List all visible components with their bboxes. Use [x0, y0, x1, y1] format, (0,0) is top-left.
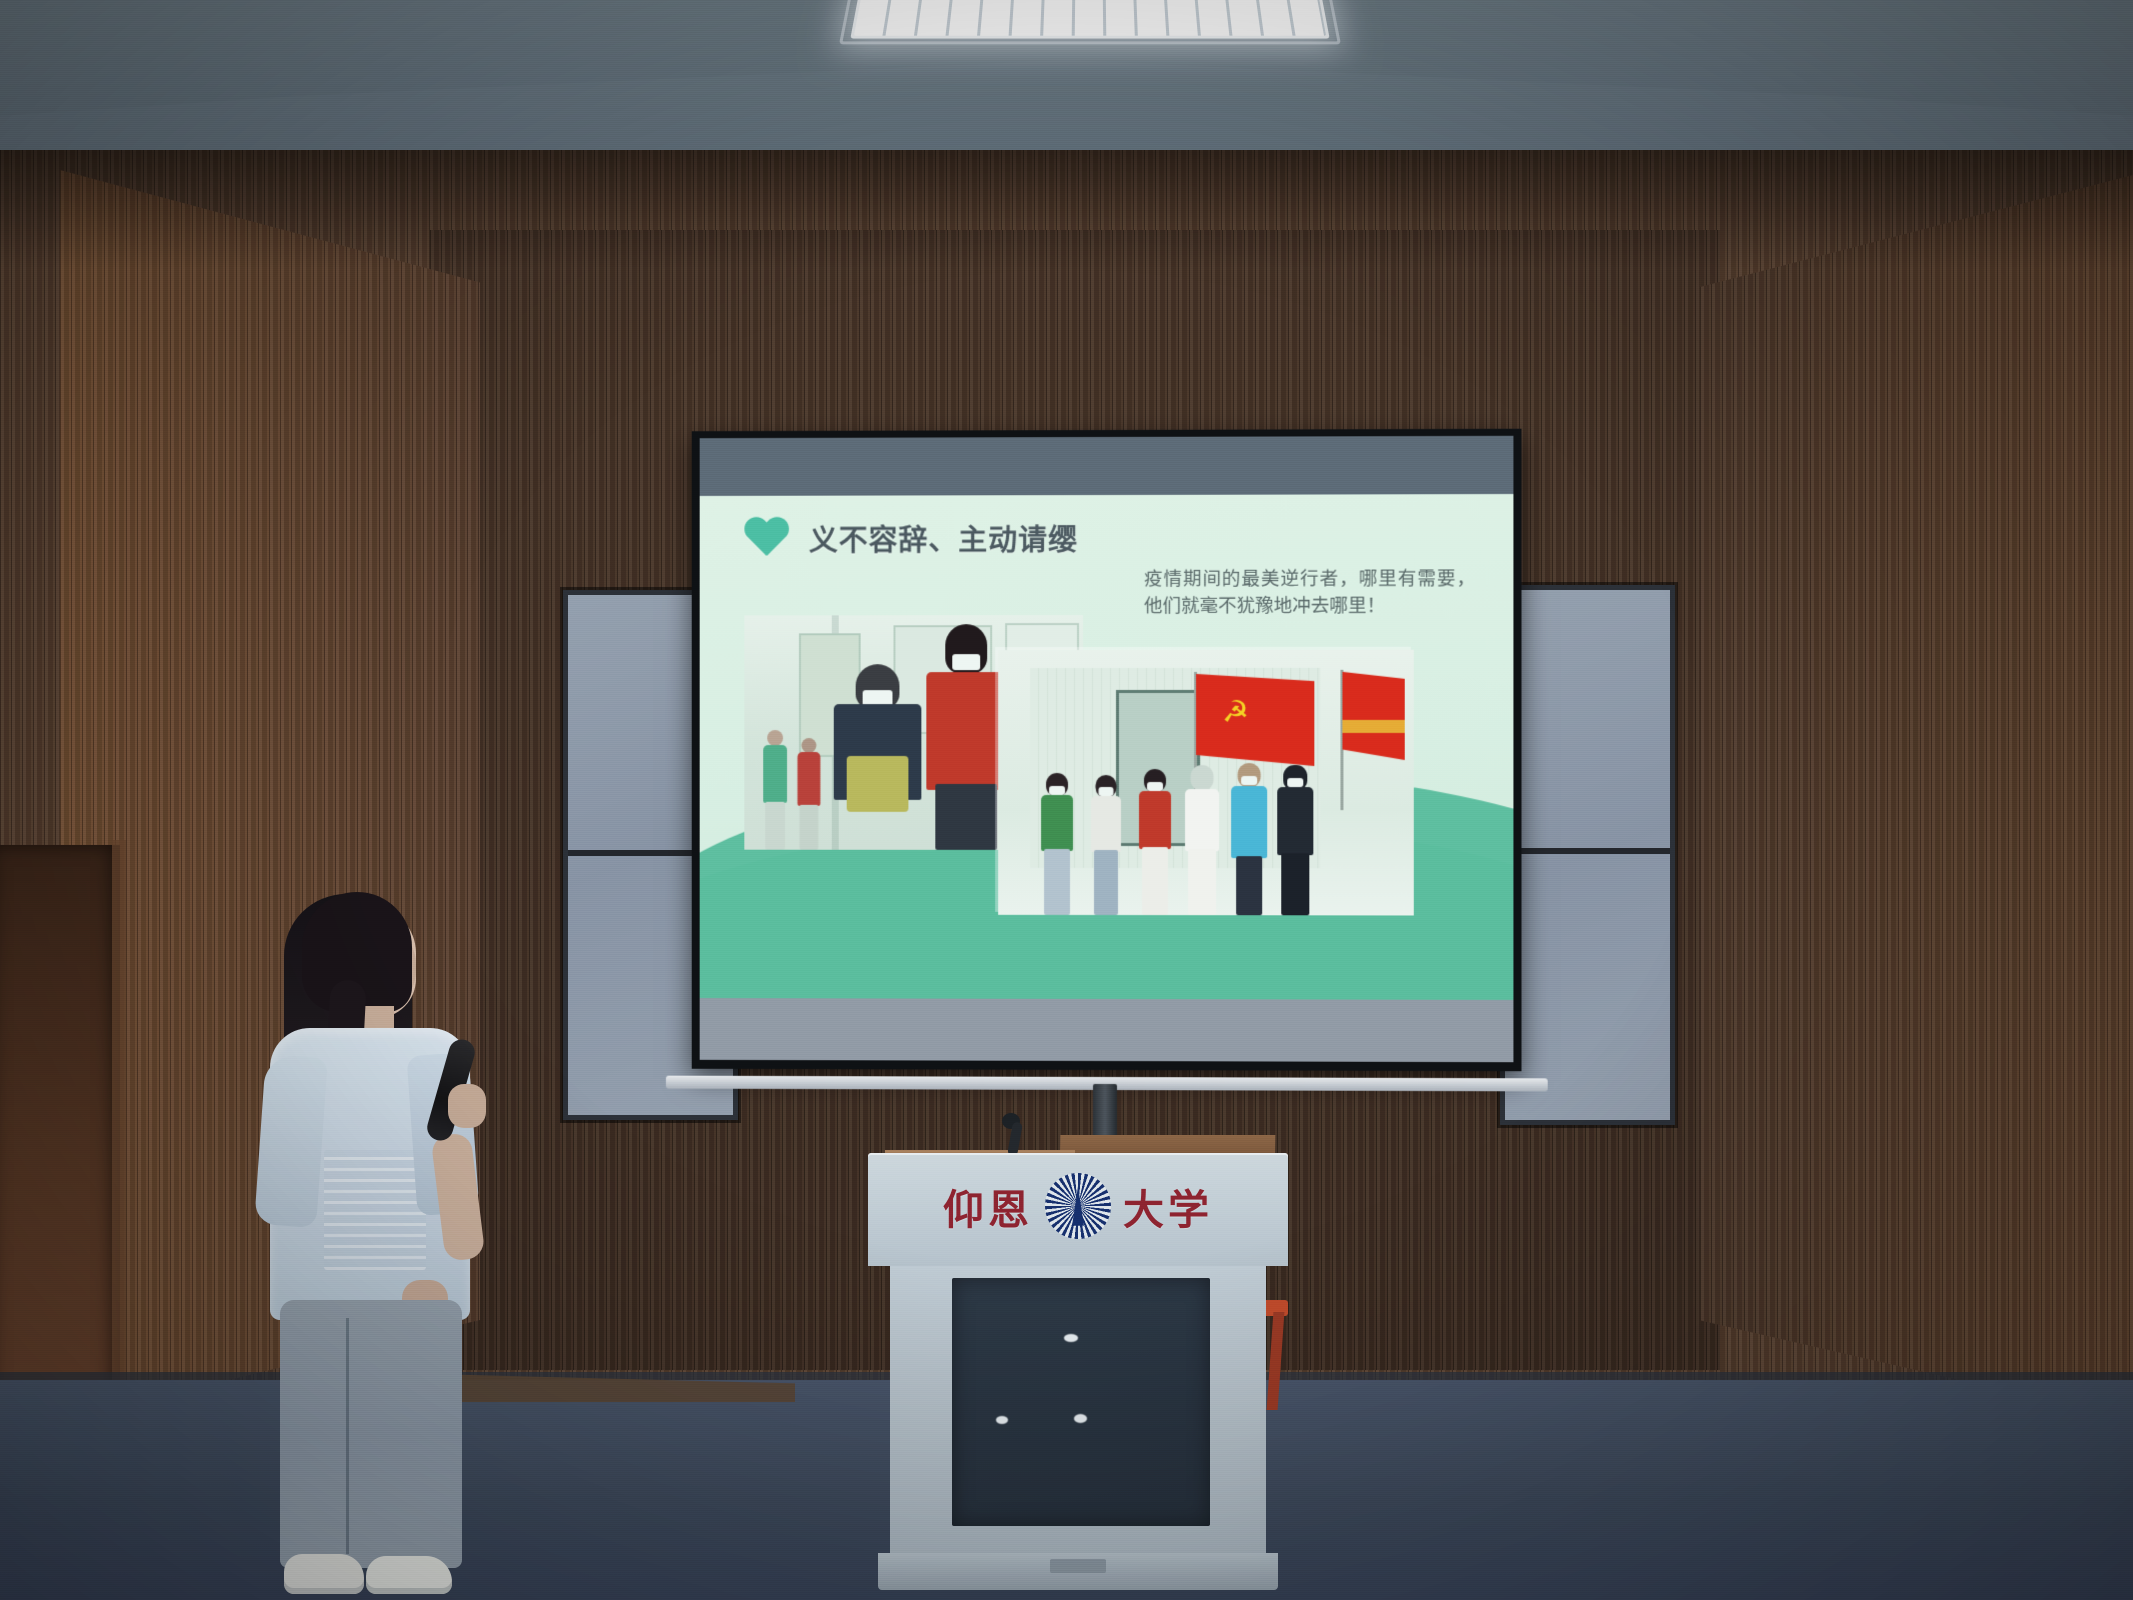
face-mask-icon	[1049, 786, 1065, 795]
legs	[1044, 849, 1070, 915]
photo1-person-background-b	[796, 738, 822, 850]
window-panel-right	[1500, 585, 1675, 1125]
screen-letterbox-top	[700, 436, 1514, 496]
legs	[1094, 850, 1118, 915]
ceiling-light-panel	[850, 0, 1329, 39]
wall-facet-right	[1700, 175, 2133, 1420]
presenter-shirt-print	[324, 1150, 426, 1270]
lectern-podium: 仰恩 大学	[868, 1153, 1288, 1590]
body	[1091, 796, 1121, 852]
heart-icon	[743, 518, 789, 560]
light-rim	[839, 0, 1341, 44]
face-mask-icon	[1099, 787, 1114, 796]
photo2-person-medical-white	[1184, 765, 1220, 915]
slide-title: 义不容辞、主动请缨	[809, 517, 1078, 559]
photo1-person-resident	[832, 664, 924, 850]
panel-glint-top	[1064, 1334, 1078, 1342]
photo1-person-background-a	[762, 730, 788, 850]
legs	[1142, 847, 1168, 915]
banner-stripe	[1342, 720, 1404, 732]
slide-body-text: 疫情期间的最美逆行者，哪里有需要，他们就毫不犹豫地冲去哪里！	[1144, 566, 1475, 620]
body	[763, 745, 787, 803]
side-doorway-recess	[0, 845, 120, 1445]
panel-glint-left	[996, 1416, 1008, 1424]
photo2-person-security	[1276, 765, 1314, 915]
doorway-trim	[112, 840, 126, 1450]
screen-letterbox-bottom	[700, 998, 1514, 1062]
presenter-jeans	[280, 1300, 462, 1568]
face-mask-icon	[952, 654, 980, 670]
presenter-shoe-right	[366, 1556, 452, 1594]
presenter-sleeve-left	[254, 1054, 328, 1228]
slide: 义不容辞、主动请缨 疫情期间的最美逆行者，哪里有需要，他们就毫不犹豫地冲去哪里！	[700, 494, 1514, 1000]
screen-surface: 义不容辞、主动请缨 疫情期间的最美逆行者，哪里有需要，他们就毫不犹豫地冲去哪里！	[700, 436, 1514, 1062]
photo2-person-student-white	[1090, 775, 1122, 915]
jeans-seam	[346, 1318, 349, 1554]
presenter-shoe-left	[284, 1554, 364, 1594]
wall-top-shadow	[0, 150, 2133, 270]
legs	[765, 802, 785, 850]
photo-scene: 义不容辞、主动请缨 疫情期间的最美逆行者，哪里有需要，他们就毫不犹豫地冲去哪里！	[0, 0, 2133, 1600]
slide-photo-volunteers-with-flag: ☭	[998, 650, 1414, 916]
body	[797, 752, 820, 806]
podium-body	[890, 1266, 1266, 1556]
red-volunteer-vest	[1139, 791, 1171, 849]
face-mask-icon	[1241, 776, 1257, 785]
head	[801, 738, 816, 753]
presenter	[262, 888, 492, 1600]
head	[767, 730, 783, 746]
red-volunteer-vest	[926, 672, 1006, 790]
podium-sign-left-text: 仰恩	[943, 1176, 1033, 1236]
photo2-person-volunteer-red	[1138, 769, 1172, 915]
podium-dark-panel	[952, 1278, 1210, 1526]
blue-isolation-gown	[1231, 786, 1267, 858]
bag	[847, 756, 909, 812]
face-mask-icon	[1147, 782, 1163, 791]
window-mullion-right	[1505, 848, 1670, 854]
head	[1191, 765, 1214, 791]
projection-screen: 义不容辞、主动请缨 疫情期间的最美逆行者，哪里有需要，他们就毫不犹豫地冲去哪里！	[692, 429, 1522, 1072]
photo2-person-medical-gown	[1230, 763, 1268, 915]
banner-flag	[1342, 672, 1404, 760]
body	[1041, 795, 1073, 851]
legs	[1236, 856, 1262, 915]
wall-ribbing-right	[1700, 175, 2133, 1420]
legs	[1281, 853, 1309, 915]
legs	[1188, 849, 1216, 915]
legs	[799, 805, 818, 850]
face-mask-icon	[1287, 778, 1303, 787]
photo2-person-student-green	[1040, 773, 1074, 915]
uniform	[1277, 787, 1313, 855]
hammer-and-sickle-emblem: ☭	[1222, 698, 1262, 731]
podium-sign-right-text: 大学	[1123, 1176, 1213, 1236]
legs	[935, 784, 997, 850]
sunburst-emblem-icon	[1045, 1173, 1111, 1239]
presenter-hand-holding-mic	[448, 1084, 486, 1128]
window-glass-right-upper	[1505, 590, 1670, 1120]
podium-university-sign: 仰恩 大学	[868, 1173, 1288, 1239]
podium-base-notch	[1050, 1559, 1106, 1573]
photo1-person-volunteer-main	[923, 624, 1009, 850]
panel-glint-right	[1074, 1414, 1087, 1423]
protective-suit	[1185, 789, 1219, 851]
party-flag: ☭	[1196, 674, 1314, 766]
slide-header: 义不容辞、主动请缨	[743, 517, 1078, 560]
